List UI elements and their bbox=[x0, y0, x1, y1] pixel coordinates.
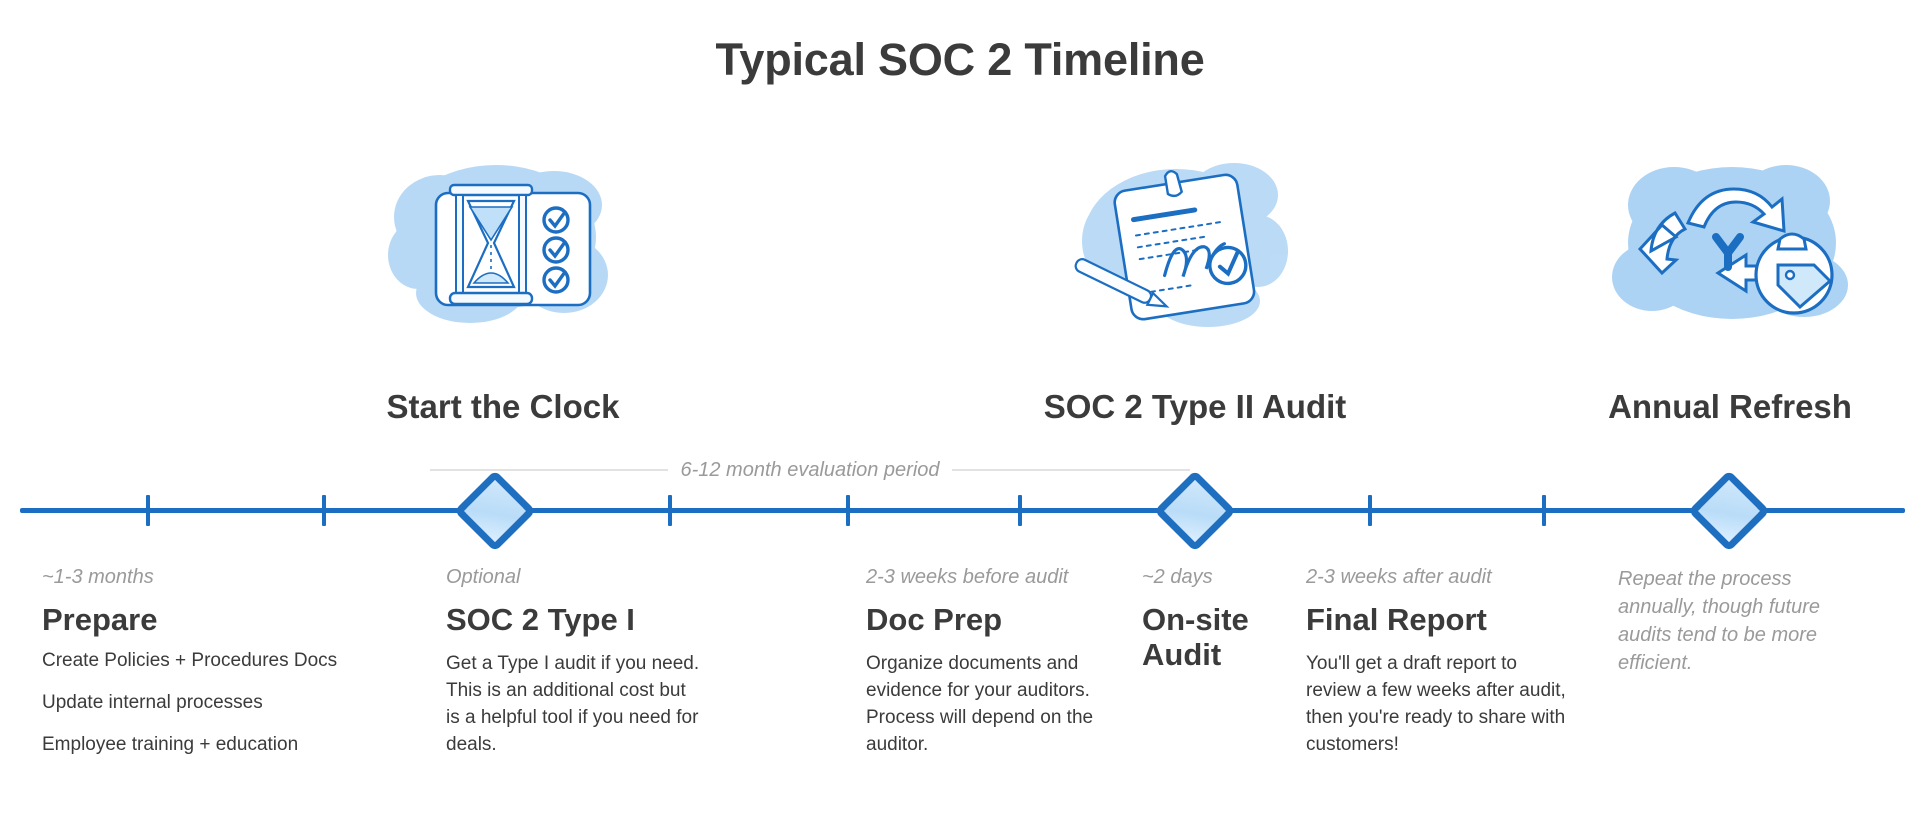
axis-tick bbox=[668, 495, 672, 526]
page-title: Typical SOC 2 Timeline bbox=[0, 34, 1920, 86]
phase-title: Final Report bbox=[1306, 602, 1576, 637]
hourglass-checklist-icon bbox=[378, 145, 628, 340]
phase-duration: 2-3 weeks before audit bbox=[866, 565, 1106, 590]
evaluation-period-label: 6-12 month evaluation period bbox=[680, 459, 939, 482]
phase-duration: 2-3 weeks after audit bbox=[1306, 565, 1576, 590]
timeline-axis bbox=[20, 508, 1905, 513]
milestone-heading-start-the-clock: Start the Clock bbox=[348, 388, 658, 426]
phase-title: Doc Prep bbox=[866, 602, 1106, 637]
phase-note: Repeat the process annually, though futu… bbox=[1618, 565, 1863, 677]
evaluation-rule-right bbox=[952, 469, 1190, 471]
phase-column-doc-prep: 2-3 weeks before audit Doc Prep Organize… bbox=[866, 565, 1106, 759]
phase-duration: Optional bbox=[446, 565, 704, 590]
phase-duration: ~1-3 months bbox=[42, 565, 382, 590]
list-item: Create Policies + Procedures Docs bbox=[42, 651, 382, 670]
timeline-infographic: Typical SOC 2 Timeline bbox=[0, 0, 1920, 830]
list-item: Update internal processes bbox=[42, 693, 382, 712]
phase-body: You'll get a draft report to review a fe… bbox=[1306, 651, 1576, 759]
phase-body: Organize documents and evidence for your… bbox=[866, 651, 1106, 759]
phase-column-on-site-audit: ~2 days On-site Audit bbox=[1142, 565, 1282, 686]
milestone-diamond-annual-refresh[interactable] bbox=[1688, 470, 1770, 552]
axis-tick bbox=[1368, 495, 1372, 526]
phase-body: Get a Type I audit if you need. This is … bbox=[446, 651, 704, 759]
phase-duration: ~2 days bbox=[1142, 565, 1282, 590]
milestone-heading-annual-refresh: Annual Refresh bbox=[1565, 388, 1895, 426]
milestone-heading-soc-2-type-ii-audit: SOC 2 Type II Audit bbox=[1000, 388, 1390, 426]
phase-title: Prepare bbox=[42, 602, 382, 637]
evaluation-period-bracket: 6-12 month evaluation period bbox=[430, 455, 1190, 485]
phase-column-annual-repeat: Repeat the process annually, though futu… bbox=[1618, 565, 1863, 677]
axis-tick bbox=[1018, 495, 1022, 526]
axis-tick bbox=[1542, 495, 1546, 526]
axis-tick bbox=[322, 495, 326, 526]
axis-tick bbox=[146, 495, 150, 526]
evaluation-rule-left bbox=[430, 469, 668, 471]
phase-title: SOC 2 Type I bbox=[446, 602, 704, 637]
recycle-renew-icon bbox=[1608, 145, 1858, 340]
phase-bullet-list: Create Policies + Procedures Docs Update… bbox=[42, 651, 382, 754]
signed-document-pen-icon bbox=[1048, 145, 1298, 340]
axis-tick bbox=[846, 495, 850, 526]
list-item: Employee training + education bbox=[42, 735, 382, 754]
phase-column-soc-2-type-i: Optional SOC 2 Type I Get a Type I audit… bbox=[446, 565, 704, 759]
phase-column-prepare: ~1-3 months Prepare Create Policies + Pr… bbox=[42, 565, 382, 777]
phase-column-final-report: 2-3 weeks after audit Final Report You'l… bbox=[1306, 565, 1576, 759]
phase-title: On-site Audit bbox=[1142, 602, 1282, 672]
